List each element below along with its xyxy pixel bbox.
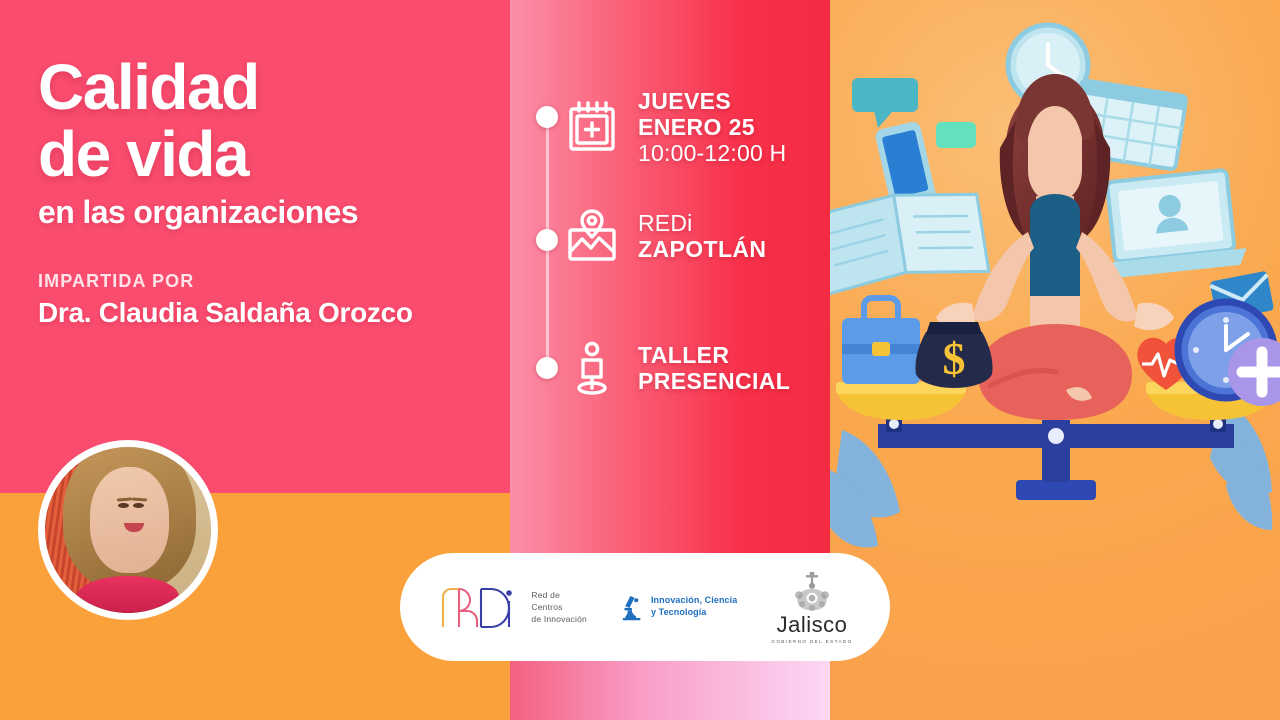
poster-title-line-2: de vida <box>38 123 508 186</box>
briefcase-icon <box>842 298 920 384</box>
title-block: Calidad de vida en las organizaciones IM… <box>38 56 508 329</box>
ict-text-line-1: Innovación, Ciencia <box>651 595 737 607</box>
calendar-plus-icon <box>566 99 618 155</box>
detail-row-date: JUEVES ENERO 25 10:00-12:00 H <box>566 88 786 167</box>
scale-pan-left <box>836 390 966 420</box>
detail-text-modality: TALLER PRESENCIAL <box>638 342 790 394</box>
redi-text-line-2: Centros <box>531 601 587 613</box>
work-life-balance-illustration: $ <box>830 0 1280 720</box>
date-line-1: JUEVES <box>638 88 731 114</box>
presenter-name: Dra. Claudia Saldaña Orozco <box>38 297 508 329</box>
presenter-label: IMPARTIDA POR <box>38 271 508 292</box>
map-pin-icon <box>566 208 618 264</box>
woman-hand-right <box>1134 303 1174 330</box>
floating-speech-bubble-icon <box>852 78 918 128</box>
avatar-eye-left <box>118 503 129 508</box>
event-poster: Calidad de vida en las organizaciones IM… <box>0 0 1280 720</box>
redi-mark-icon <box>437 581 523 633</box>
illustration-panel: $ <box>830 0 1280 720</box>
avatar-photo <box>45 447 211 613</box>
ict-logo-text: Innovación, Ciencia y Tecnología <box>651 595 737 618</box>
coat-of-arms-icon <box>789 570 835 614</box>
floating-open-book-icon <box>830 182 989 297</box>
logo-redi: Red de Centros de Innovación <box>437 581 587 633</box>
avatar-eyebrow-right <box>132 497 147 501</box>
avatar-mouth <box>124 523 144 532</box>
detail-text-location: REDi ZAPOTLÁN <box>638 210 766 262</box>
modality-line-1: TALLER <box>638 342 729 368</box>
redi-text-line-3: de Innovación <box>531 613 587 625</box>
money-bag-icon: $ <box>915 322 992 388</box>
logo-innovacion-ciencia-tecnologia: Innovación, Ciencia y Tecnología <box>621 593 737 621</box>
detail-row-modality: TALLER PRESENCIAL <box>566 340 790 396</box>
logo-bar: Red de Centros de Innovación Innovación,… <box>400 553 890 661</box>
modality-line-2: PRESENCIAL <box>638 368 790 394</box>
svg-text:$: $ <box>943 333 966 384</box>
poster-title-line-1: Calidad <box>38 56 508 119</box>
scale-hinge-right <box>1213 419 1223 429</box>
poster-subtitle: en las organizaciones <box>38 195 508 230</box>
timeline-dot-3 <box>536 357 558 379</box>
redi-logo-text: Red de Centros de Innovación <box>531 589 587 626</box>
timeline-dot-2 <box>536 229 558 251</box>
scale-hinge-left <box>889 419 899 429</box>
woman-top <box>1030 194 1080 300</box>
date-line-3: 10:00-12:00 H <box>638 140 786 166</box>
avatar-eye-right <box>133 503 144 508</box>
avatar-eyebrow-left <box>117 497 132 501</box>
avatar-face <box>90 467 170 573</box>
person-standing-icon <box>566 340 618 396</box>
jalisco-subtitle: GOBIERNO DEL ESTADO <box>771 639 852 644</box>
location-line-2: ZAPOTLÁN <box>638 236 766 262</box>
date-line-2: ENERO 25 <box>638 114 755 140</box>
logo-jalisco: Jalisco GOBIERNO DEL ESTADO <box>771 570 852 644</box>
jalisco-name: Jalisco <box>777 612 848 638</box>
redi-text-line-1: Red de <box>531 589 587 601</box>
avatar-scarf <box>77 576 180 613</box>
microscope-icon <box>621 593 643 621</box>
floating-laptop-icon <box>1095 169 1248 280</box>
location-line-1: REDi <box>638 210 692 236</box>
timeline-dot-1 <box>536 106 558 128</box>
detail-text-date: JUEVES ENERO 25 10:00-12:00 H <box>638 88 786 167</box>
presenter-avatar <box>38 440 218 620</box>
floating-sticky-note-icon <box>936 122 976 148</box>
detail-row-location: REDi ZAPOTLÁN <box>566 208 766 264</box>
ict-text-line-2: y Tecnología <box>651 607 737 619</box>
scale-base <box>1016 480 1096 500</box>
scale-pivot <box>1048 428 1064 444</box>
